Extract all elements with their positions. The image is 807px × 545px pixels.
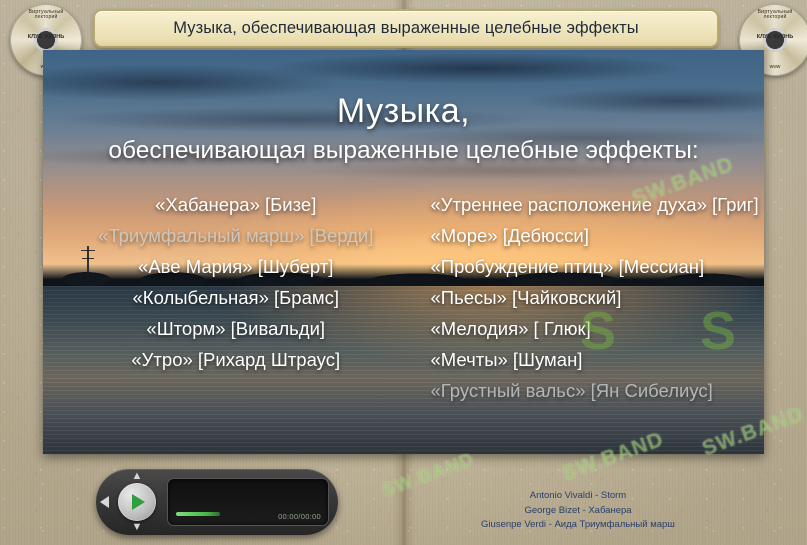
- audio-player[interactable]: ▲ ▼ 00:00/00:00: [96, 469, 338, 535]
- credit-line: Giusenpe Verdi - Аида Триумфальный марш: [413, 518, 743, 533]
- list-item: «Мечты» [Шуман]: [431, 349, 765, 371]
- page-title: Музыка, обеспечивающая выраженные целебн…: [173, 19, 638, 38]
- list-item: «Хабанера» [Бизе]: [69, 194, 403, 216]
- volume-up-icon[interactable]: ▲: [129, 470, 145, 482]
- track-credits: Antonio Vivaldi - Storm George Bizet - Х…: [413, 489, 743, 533]
- disc-right-center-label: КЛУБ ЖИЗНЬ: [739, 34, 807, 40]
- credit-line: Antonio Vivaldi - Storm: [413, 489, 743, 504]
- list-item: «Колыбельная» [Брамс]: [69, 287, 403, 309]
- list-item: «Мелодия» [ Глюк]: [431, 318, 765, 340]
- credit-line: George Bizet - Хабанера: [413, 504, 743, 519]
- list-item: «Утро» [Рихард Штраус]: [69, 349, 403, 371]
- track-columns: «Хабанера» [Бизе] «Триумфальный марш» [В…: [43, 190, 764, 440]
- track-column-right: «Утреннее расположение духа» [Григ] «Мор…: [403, 190, 765, 440]
- application-window: Музыка, обеспечивающая выраженные целебн…: [0, 0, 807, 545]
- play-icon: [132, 494, 145, 510]
- player-display: 00:00/00:00: [168, 479, 328, 525]
- slide-heading: Музыка, обеспечивающая выраженные целебн…: [43, 92, 764, 165]
- list-item: «Утреннее расположение духа» [Григ]: [431, 194, 765, 216]
- list-item: «Аве Мария» [Шуберт]: [69, 256, 403, 278]
- volume-bar[interactable]: [176, 512, 220, 516]
- time-display: 00:00/00:00: [278, 512, 321, 521]
- slide-heading-line1: Музыка,: [43, 92, 764, 131]
- disc-left-center-label: КЛУБ ЖИЗНЬ: [10, 34, 82, 40]
- slide-heading-line2: обеспечивающая выраженные целебные эффек…: [43, 137, 764, 165]
- list-item: «Пьесы» [Чайковский]: [431, 287, 765, 309]
- previous-track-icon[interactable]: [100, 496, 109, 508]
- disc-left-arc-top2: лекторий: [10, 14, 82, 20]
- disc-right-arc-top2: лекторий: [739, 14, 807, 20]
- volume-down-icon[interactable]: ▼: [129, 521, 145, 533]
- track-column-left: «Хабанера» [Бизе] «Триумфальный марш» [В…: [43, 190, 403, 440]
- list-item: «Пробуждение птиц» [Мессиан]: [431, 256, 765, 278]
- slide-image: Музыка, обеспечивающая выраженные целебн…: [43, 50, 764, 454]
- list-item: «Шторм» [Вивальди]: [69, 318, 403, 340]
- play-button[interactable]: [118, 483, 156, 521]
- list-item: «Море» [Дебюсси]: [431, 225, 765, 247]
- list-item: «Грустный вальс» [Ян Сибелиус]: [431, 380, 765, 402]
- page-title-bar: Музыка, обеспечивающая выраженные целебн…: [93, 9, 719, 48]
- list-item: «Триумфальный марш» [Верди]: [69, 225, 403, 247]
